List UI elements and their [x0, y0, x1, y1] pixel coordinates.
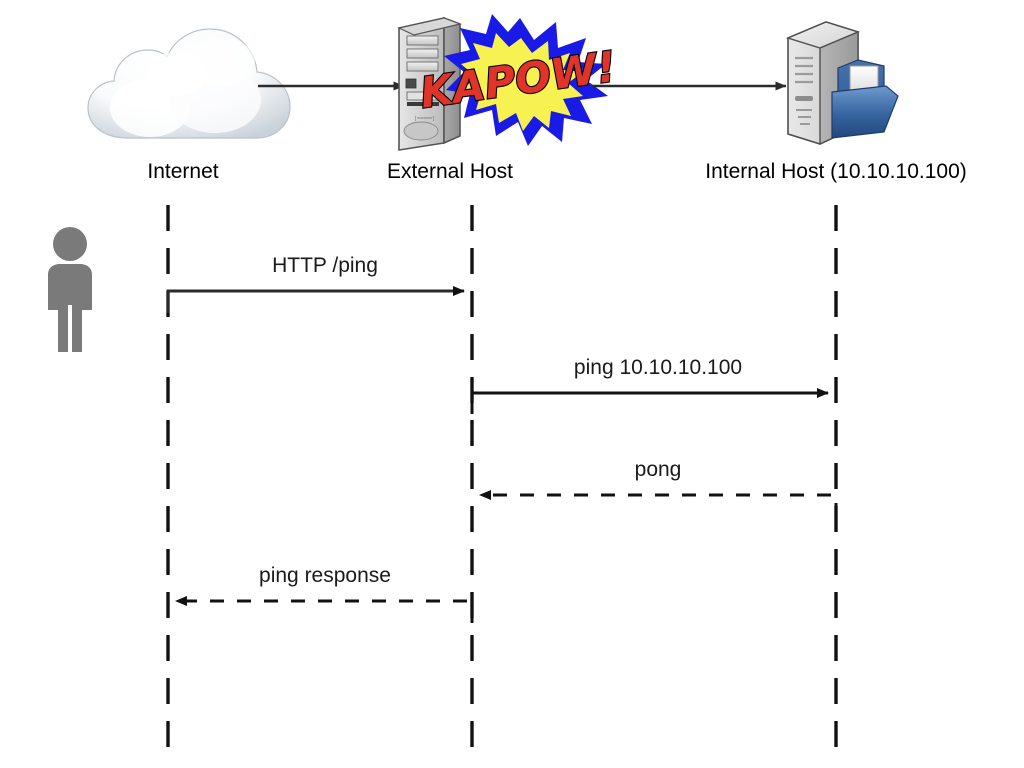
message-label-ping-response: ping response: [259, 564, 391, 587]
message-ping-response: ping response: [176, 564, 472, 623]
node-label-external-host: External Host: [387, 160, 513, 183]
person-icon: [48, 227, 92, 352]
message-ping-ip: ping 10.10.10.100: [472, 356, 828, 414]
message-label-http-ping: HTTP /ping: [272, 254, 378, 277]
diagram-svg: [=====] KAPOW! I: [0, 0, 1024, 768]
message-label-pong: pong: [635, 458, 682, 481]
message-http-ping: HTTP /ping: [168, 254, 464, 313]
node-label-internet: Internet: [147, 160, 218, 183]
message-pong: pong: [480, 458, 836, 517]
cloud-icon: [88, 29, 290, 138]
server-folder-icon: [788, 22, 898, 144]
node-label-internal-host: Internal Host (10.10.10.100): [705, 160, 967, 183]
message-label-ping-ip: ping 10.10.10.100: [574, 356, 742, 379]
sequence-diagram-canvas: [=====] KAPOW! I: [0, 0, 1024, 768]
